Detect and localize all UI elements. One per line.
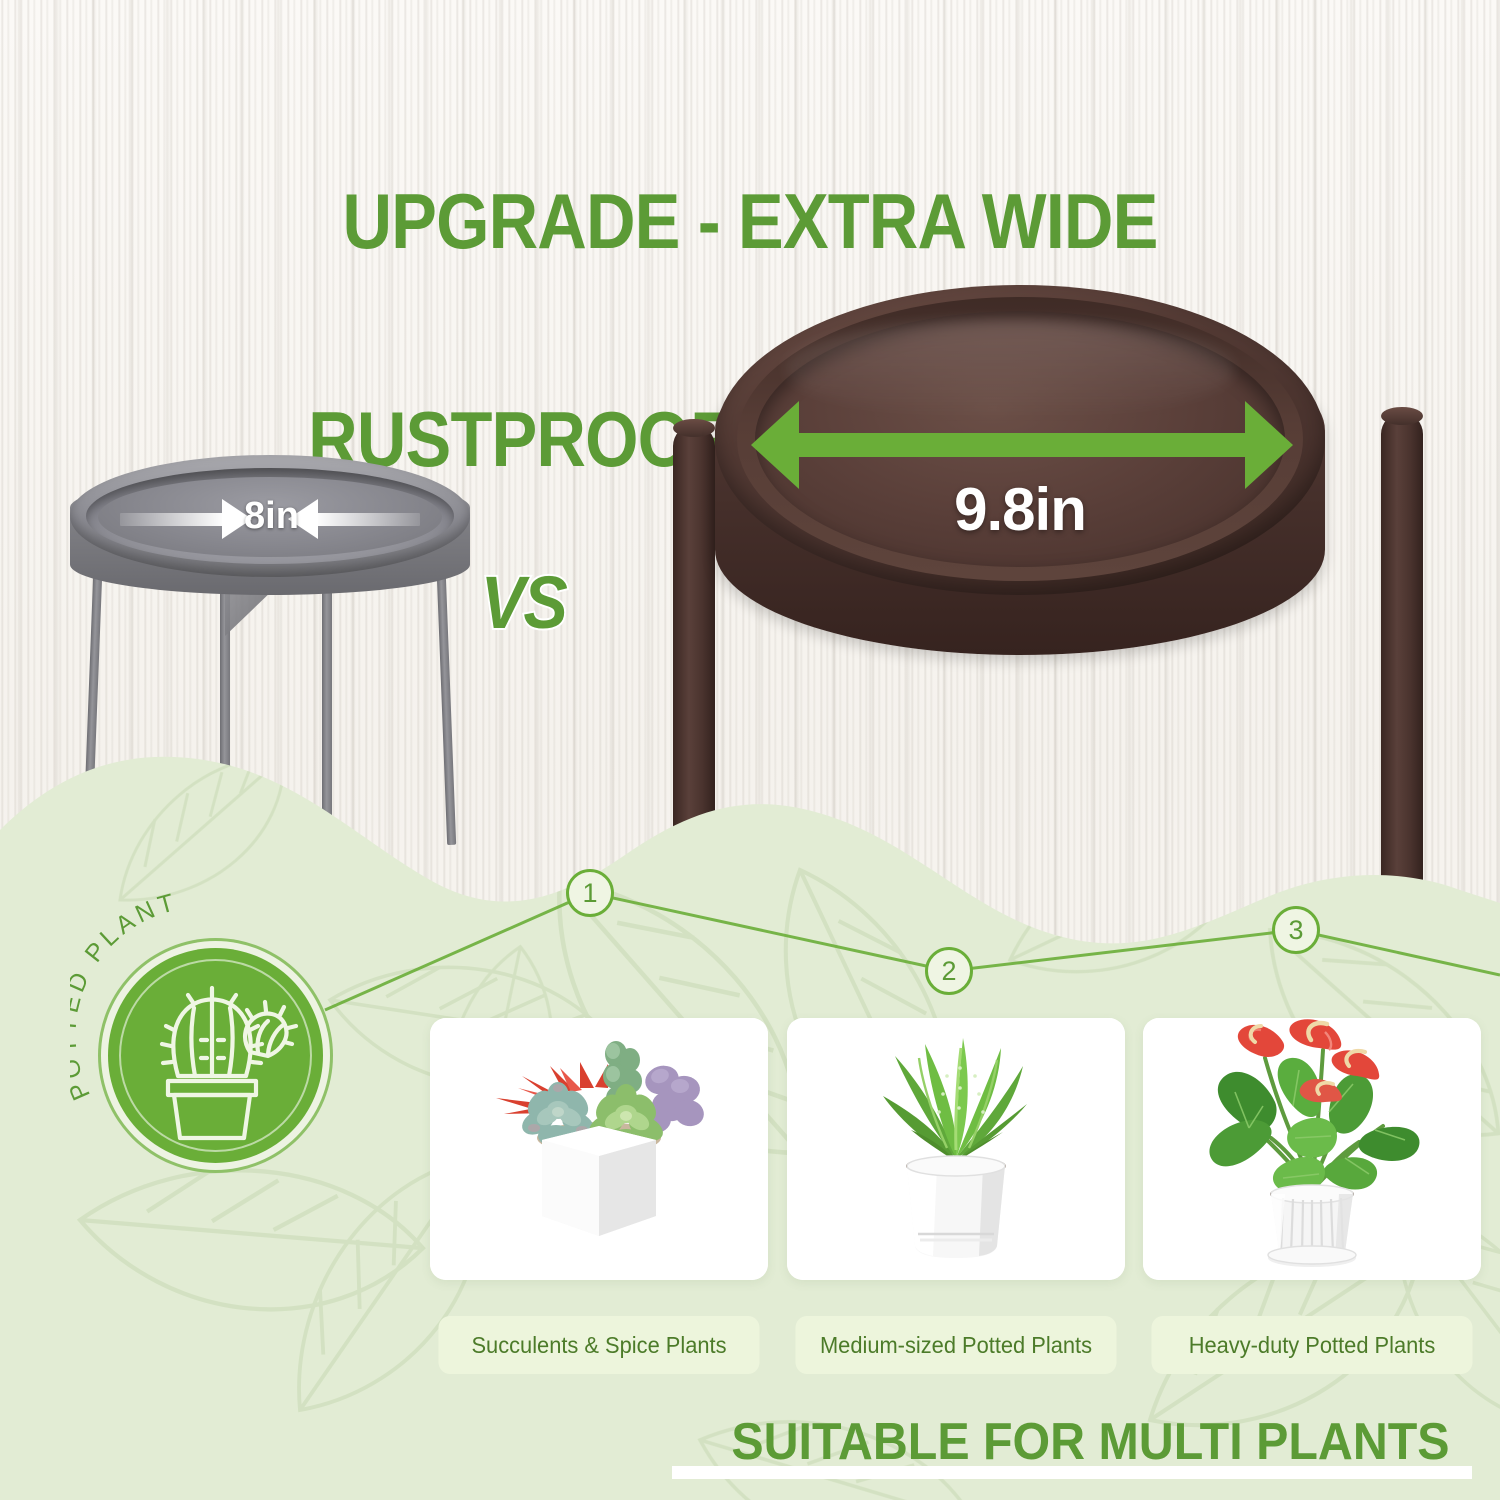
- succulents-in-white-hex-pot-icon: [430, 1018, 768, 1280]
- plant-card-2[interactable]: [787, 1018, 1125, 1280]
- step-node-3[interactable]: 3: [1272, 906, 1320, 954]
- plant-caption-1: Succulents & Spice Plants: [438, 1316, 759, 1374]
- anthurium-in-white-ribbed-pot-icon: [1143, 1018, 1481, 1280]
- plant-caption-3: Heavy-duty Potted Plants: [1151, 1316, 1472, 1374]
- plant-card-3[interactable]: [1143, 1018, 1481, 1280]
- cactus-icon: [108, 948, 323, 1163]
- step-node-1[interactable]: 1: [566, 869, 614, 917]
- step-node-2[interactable]: 2: [925, 947, 973, 995]
- aloe-in-white-round-pot-icon: [787, 1018, 1125, 1280]
- plant-caption-2: Medium-sized Potted Plants: [795, 1316, 1116, 1374]
- plant-card-1[interactable]: [430, 1018, 768, 1280]
- potted-plant-badge: POTTED PLANT: [108, 948, 323, 1163]
- infographic-canvas: UPGRADE - EXTRA WIDE RUSTPROOF ROUND TRA…: [0, 0, 1500, 1500]
- footer-headline: SUITABLE FOR MULTI PLANTS: [103, 1412, 1470, 1472]
